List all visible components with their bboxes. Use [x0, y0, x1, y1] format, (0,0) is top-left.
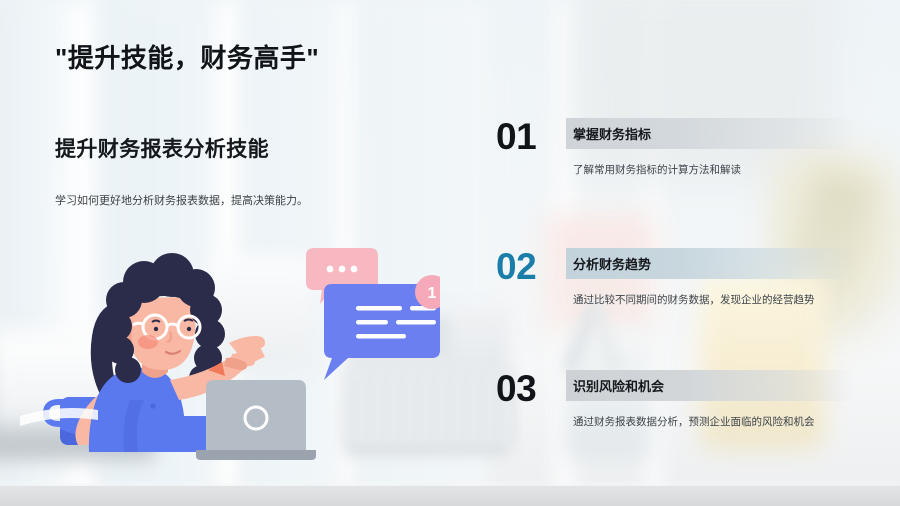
bubble-text-line-1a: [356, 306, 402, 311]
item-title: 分析财务趋势: [573, 254, 651, 273]
illustration-woman-at-laptop: 1: [20, 230, 440, 460]
background-desk: [0, 486, 900, 506]
item-description: 了解常用财务指标的计算方法和解读: [573, 162, 851, 179]
typing-dot-2: [339, 266, 346, 273]
typing-dot-3: [351, 266, 358, 273]
bubble-text-line-3: [356, 334, 406, 339]
typing-dot-1: [327, 266, 334, 273]
shirt-button: [150, 403, 155, 408]
item-number: 01: [496, 118, 536, 155]
slide-canvas: 1 "提升技能，财务高手" 提升财务报表分析技能 学习如何更好地分析财务报表数据…: [0, 0, 900, 506]
eye-right: [187, 327, 191, 331]
item-title: 掌握财务指标: [573, 124, 651, 143]
slide-title: "提升技能，财务高手": [55, 38, 319, 75]
cheek-blush: [138, 335, 158, 349]
item-number: 02: [496, 248, 536, 285]
badge-count: 1: [428, 285, 437, 302]
slide-lede: 学习如何更好地分析财务报表数据，提高决策能力。: [55, 193, 385, 210]
slide-subtitle: 提升财务报表分析技能: [55, 133, 269, 163]
laptop-icon: [196, 380, 316, 460]
eye-left: [154, 327, 158, 331]
bubble-text-line-2a: [356, 320, 388, 325]
bubble-text-line-2b: [396, 320, 436, 325]
item-description: 通过比较不同期间的财务数据，发现企业的经营趋势: [573, 292, 851, 309]
item-description: 通过财务报表数据分析，预测企业面临的风险和机会: [573, 414, 851, 431]
item-title: 识别风险和机会: [573, 376, 664, 395]
item-number: 03: [496, 370, 536, 407]
